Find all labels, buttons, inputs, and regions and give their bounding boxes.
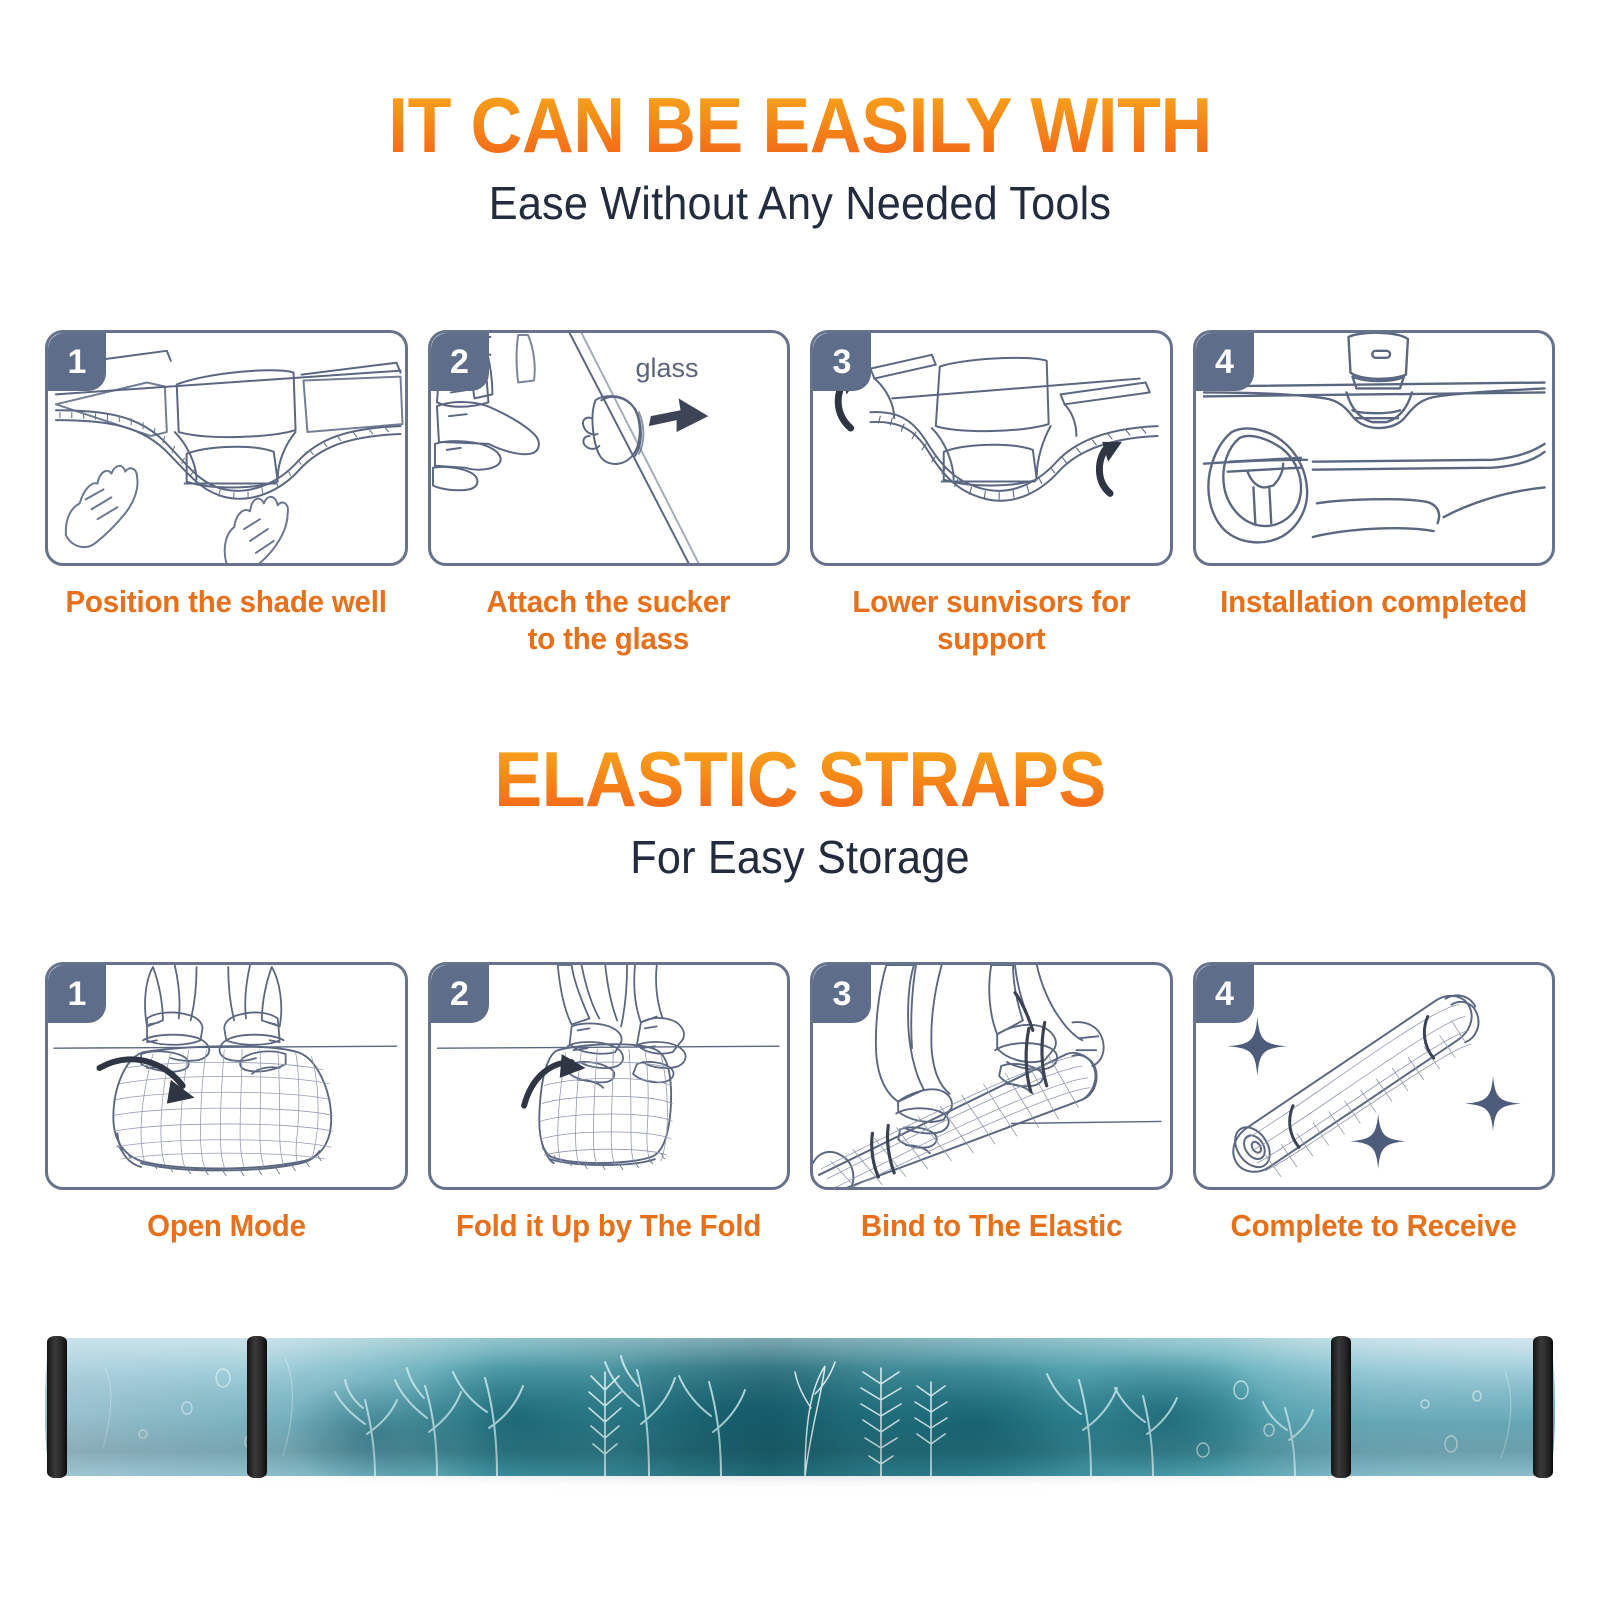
step-panel: 4 xyxy=(1193,330,1556,566)
step-caption: Position the shade well xyxy=(66,584,387,621)
step-panel: 1 xyxy=(45,330,408,566)
step-number-badge: 3 xyxy=(813,965,871,1023)
elastic-strap-right xyxy=(1331,1336,1351,1478)
step-caption: Fold it Up by The Fold xyxy=(456,1208,761,1245)
step-number-badge: 1 xyxy=(48,333,106,391)
step-panel: 2 xyxy=(428,962,791,1190)
step-caption: Complete to Receive xyxy=(1231,1208,1517,1245)
storage-step-2: 2 xyxy=(428,962,791,1245)
step-panel: 1 xyxy=(45,962,408,1190)
step-caption: Lower sunvisors for support xyxy=(852,584,1130,657)
storage-subtitle: For Easy Storage xyxy=(48,830,1552,884)
storage-step-3: 3 xyxy=(810,962,1173,1245)
install-section-heading: IT CAN BE EASILY WITH Ease Without Any N… xyxy=(0,86,1600,230)
elastic-strap-left xyxy=(247,1336,267,1478)
install-step-3: 3 xyxy=(810,330,1173,657)
elastic-strap-right-end xyxy=(1533,1336,1553,1478)
sparkle-icon xyxy=(1227,1016,1520,1168)
step-caption: Open Mode xyxy=(147,1208,306,1245)
step-caption: Installation completed xyxy=(1220,584,1527,621)
install-steps-grid: 1 xyxy=(0,330,1600,657)
rolled-sunshade-product-photo xyxy=(45,1338,1555,1498)
step-caption: Attach the sucker to the glass xyxy=(487,584,731,657)
step-number-badge: 3 xyxy=(813,333,871,391)
product-roll-body xyxy=(45,1338,1555,1476)
coral-print-fabric xyxy=(45,1338,1555,1476)
install-step-1: 1 xyxy=(45,330,408,657)
step-panel: 2 glass xyxy=(428,330,791,566)
storage-title: ELASTIC STRAPS xyxy=(64,740,1536,820)
step-panel: 3 xyxy=(810,962,1173,1190)
direction-arrow-icon xyxy=(648,398,707,432)
storage-steps-grid: 1 xyxy=(0,962,1600,1245)
step-panel: 4 xyxy=(1193,962,1556,1190)
step-caption: Bind to The Elastic xyxy=(861,1208,1122,1245)
storage-step-4: 4 xyxy=(1193,962,1556,1245)
step-number-badge: 2 xyxy=(431,965,489,1023)
glass-annotation-label: glass xyxy=(636,353,699,384)
storage-section-heading: ELASTIC STRAPS For Easy Storage xyxy=(0,740,1600,884)
install-subtitle: Ease Without Any Needed Tools xyxy=(48,176,1552,230)
elastic-strap-left-end xyxy=(47,1336,67,1478)
step-number-badge: 1 xyxy=(48,965,106,1023)
storage-step-1: 1 xyxy=(45,962,408,1245)
step-number-badge: 2 xyxy=(431,333,489,391)
install-title: IT CAN BE EASILY WITH xyxy=(64,86,1536,166)
install-step-2: 2 glass xyxy=(428,330,791,657)
step-number-badge: 4 xyxy=(1196,965,1254,1023)
install-step-4: 4 xyxy=(1193,330,1556,657)
step-number-badge: 4 xyxy=(1196,333,1254,391)
step-panel: 3 xyxy=(810,330,1173,566)
